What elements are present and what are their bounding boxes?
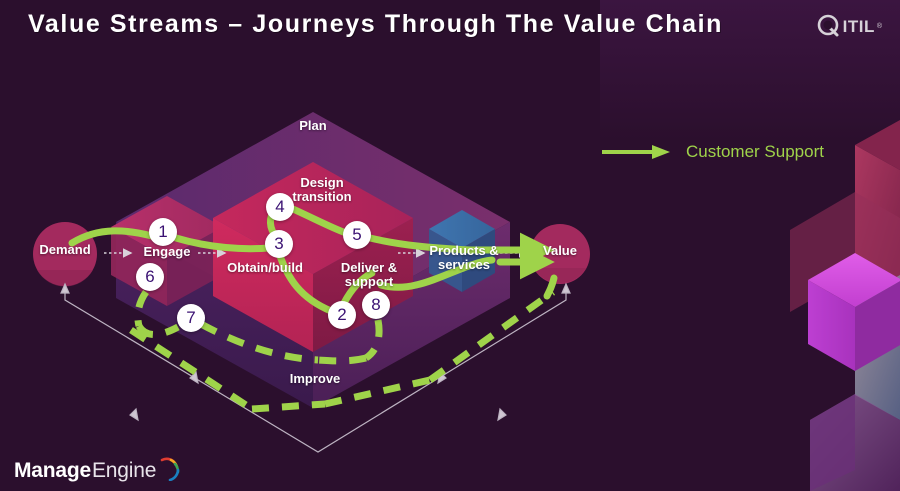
manageengine-light-text: Engine	[92, 460, 156, 481]
step-badge-4: 4	[266, 193, 294, 221]
itil-wordmark: ITIL	[843, 18, 875, 35]
step-badge-8: 8	[362, 291, 390, 319]
manageengine-logo: Manage Engine	[14, 457, 180, 481]
green-arrow-icon	[600, 143, 672, 161]
itil-registered-mark: ®	[877, 23, 882, 30]
value-chain-diagram	[0, 0, 900, 491]
itil-logo: ITIL ®	[817, 14, 882, 38]
step-badge-7: 7	[177, 304, 205, 332]
manageengine-bold-text: Manage	[14, 460, 91, 481]
step-badge-2: 2	[328, 301, 356, 329]
step-badge-3: 3	[265, 230, 293, 258]
legend-label: Customer Support	[686, 142, 824, 162]
page-title: Value Streams – Journeys Through The Val…	[28, 10, 723, 39]
legend: Customer Support	[600, 142, 824, 162]
step-badge-1: 1	[149, 218, 177, 246]
step-badge-5: 5	[343, 221, 371, 249]
slide-canvas: Value Streams – Journeys Through The Val…	[0, 0, 900, 491]
manageengine-swoosh-icon	[158, 457, 180, 481]
itil-q-logo-icon	[817, 14, 841, 38]
step-badge-6: 6	[136, 263, 164, 291]
